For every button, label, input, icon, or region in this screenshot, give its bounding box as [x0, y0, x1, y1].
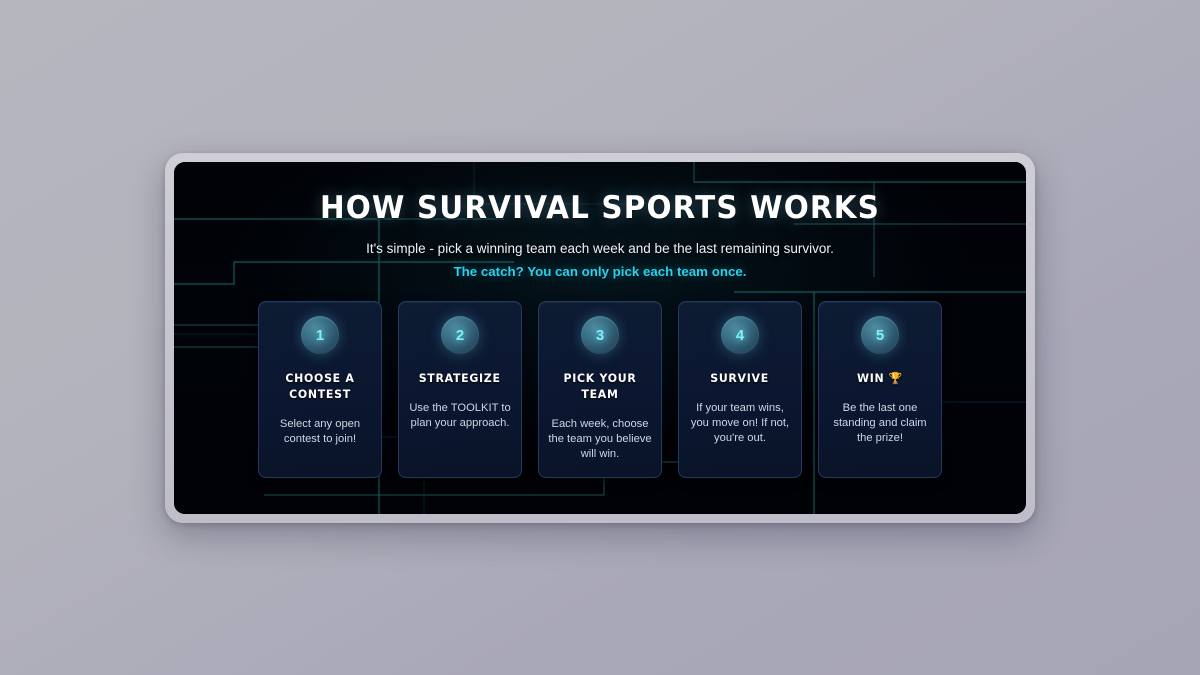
- hero-subtitle: It's simple - pick a winning team each w…: [188, 241, 1012, 256]
- step-number-badge: 2: [441, 316, 479, 354]
- step-title: WIN 🏆: [857, 371, 903, 387]
- hero-content: HOW SURVIVAL SPORTS WORKS It's simple - …: [174, 162, 1026, 514]
- step-card-5[interactable]: 5 WIN 🏆 Be the last one standing and cla…: [818, 301, 942, 478]
- step-title: STRATEGIZE: [419, 371, 501, 387]
- hero-catch-line: The catch? You can only pick each team o…: [188, 264, 1012, 279]
- step-title: SURVIVE: [711, 371, 770, 387]
- step-card-4[interactable]: 4 SURVIVE If your team wins, you move on…: [678, 301, 802, 478]
- screen-panel: HOW SURVIVAL SPORTS WORKS It's simple - …: [174, 162, 1026, 514]
- page-title: HOW SURVIVAL SPORTS WORKS: [209, 192, 992, 225]
- step-number-badge: 1: [301, 316, 339, 354]
- step-card-1[interactable]: 1 CHOOSE A CONTEST Select any open conte…: [258, 301, 382, 478]
- step-card-2[interactable]: 2 STRATEGIZE Use the TOOLKIT to plan you…: [398, 301, 522, 478]
- trophy-icon: 🏆: [889, 371, 903, 385]
- step-number-badge: 4: [721, 316, 759, 354]
- steps-row: 1 CHOOSE A CONTEST Select any open conte…: [188, 301, 1012, 478]
- step-number-badge: 3: [581, 316, 619, 354]
- step-description: Be the last one standing and claim the p…: [828, 401, 932, 447]
- step-title: PICK YOUR TEAM: [550, 371, 650, 402]
- step-description: If your team wins, you move on! If not, …: [688, 401, 792, 447]
- step-description: Use the TOOLKIT to plan your approach.: [408, 401, 512, 432]
- step-number-badge: 5: [861, 316, 899, 354]
- step-description: Each week, choose the team you believe w…: [548, 417, 652, 463]
- device-frame: HOW SURVIVAL SPORTS WORKS It's simple - …: [165, 153, 1035, 523]
- step-card-3[interactable]: 3 PICK YOUR TEAM Each week, choose the t…: [538, 301, 662, 478]
- step-description: Select any open contest to join!: [268, 417, 372, 448]
- step-title: CHOOSE A CONTEST: [270, 371, 370, 402]
- step-title-label: WIN: [857, 371, 884, 385]
